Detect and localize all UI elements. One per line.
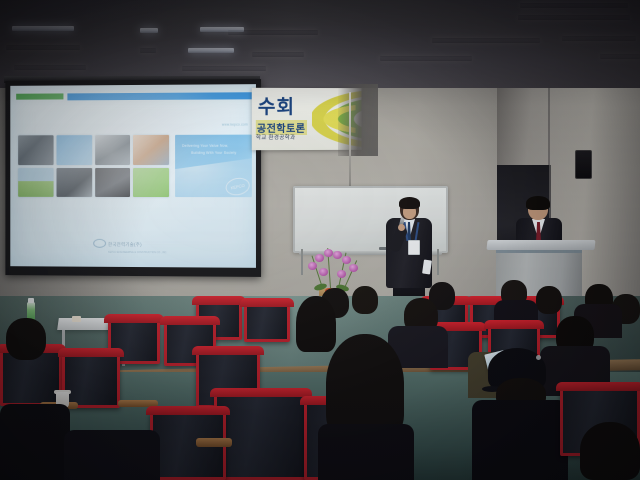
fluorescent-tube (182, 66, 266, 71)
fluorescent-tube (518, 15, 630, 20)
seat-rim (210, 388, 312, 397)
bottle-cap (28, 298, 34, 303)
audience-coat (318, 424, 414, 480)
orchid-bloom (319, 268, 328, 276)
orchid-bloom (342, 256, 351, 264)
company-name-en: KEPCO ENGINEERING & CONSTRUCTION CO., IN… (108, 251, 167, 254)
presenter-with-microphone (383, 198, 435, 304)
fluorescent-tube (228, 30, 318, 35)
auditorium-seat (244, 302, 290, 342)
slide-thumb-globe (133, 135, 169, 165)
slide-tagline-panel: Delivering Your Value Now, Building With… (175, 135, 252, 198)
audience-long-hair (326, 334, 404, 438)
orchid-bloom (349, 264, 358, 272)
fluorescent-tube (380, 56, 472, 61)
seat-rim (146, 406, 230, 415)
slide-thumb-industrial (56, 168, 91, 197)
company-mark-icon (93, 239, 106, 248)
loudspeaker-icon (575, 150, 592, 179)
slide-footer-logo: 한국전력기술(주) KEPCO ENGINEERING & CONSTRUCTI… (93, 233, 167, 254)
banner-title: 수회 (258, 98, 295, 117)
fluorescent-tube (600, 54, 640, 59)
cap-logo-icon (536, 355, 541, 360)
seat-rim (192, 296, 246, 305)
fluorescent-tube (562, 36, 636, 41)
presenter-hair (399, 197, 420, 209)
slide-thumb-crowd (18, 135, 53, 164)
slide-thumb-keyboard (95, 168, 131, 197)
slide-accent-green (16, 93, 63, 99)
audience-long-hair (580, 422, 640, 480)
orchid-bloom (315, 254, 324, 262)
seat-rim (240, 298, 294, 307)
orchid-bloom (308, 262, 317, 270)
paper-cup (72, 316, 81, 322)
presentation-slide: www.kepco.com Delivering Your Value Now,… (10, 84, 256, 268)
audience-coat (472, 400, 568, 480)
slide-url: www.kepco.com (222, 123, 248, 127)
audience-long-hair (296, 296, 336, 352)
seat-rim (160, 316, 220, 325)
auditorium-seat (214, 392, 308, 480)
audience-head (352, 286, 378, 314)
fluorescent-tube (520, 3, 628, 8)
orchid-bloom (333, 251, 342, 259)
audience-head (6, 318, 46, 360)
fluorescent-tube (6, 45, 80, 50)
audience-head (536, 286, 562, 314)
company-name-ko: 한국전력기술(주) (108, 242, 142, 247)
seat-rim (104, 314, 164, 323)
fluorescent-tube (14, 65, 86, 70)
seat-rim (484, 320, 544, 329)
seat-armrest (196, 438, 232, 447)
lectern-surface (486, 240, 595, 250)
lectern-person-hair (526, 196, 550, 210)
banner-org: 학교 환경공학과 (256, 133, 296, 141)
seat-back (62, 352, 120, 408)
audience-coat (64, 430, 160, 480)
slide-thumb-blue (56, 135, 91, 164)
lecture-hall-photo: www.kepco.com Delivering Your Value Now,… (0, 0, 640, 480)
orchid-bloom (324, 249, 333, 257)
slide-thumbnail-grid (18, 135, 169, 197)
banner-pole (349, 92, 351, 190)
whiteboard-leg (437, 249, 439, 275)
fluorescent-tube (252, 52, 304, 57)
fluorescent-tube (432, 38, 540, 43)
audience-coat (0, 404, 70, 480)
auditorium-seat (62, 352, 120, 408)
banner-shadow-occlusion (338, 84, 378, 156)
seat-back (214, 392, 308, 480)
seat-rim (556, 382, 640, 391)
slide-thumb-turbine (18, 168, 53, 197)
projector-screen: www.kepco.com Delivering Your Value Now,… (5, 79, 261, 277)
slide-thumb-field (133, 167, 169, 197)
seat-rim (58, 348, 124, 357)
fluorescent-tube (188, 48, 234, 53)
slide-thumb-machinery (95, 135, 131, 165)
seat-back (244, 302, 290, 342)
name-badge (408, 240, 420, 255)
slide-tagline-1: Delivering Your Value Now, (182, 144, 228, 148)
fluorescent-tube (12, 26, 74, 31)
presenter-hand (398, 224, 405, 231)
orchid-bloom (337, 270, 346, 278)
seat-rim (192, 346, 264, 355)
slide-accent-blue (67, 92, 252, 100)
fluorescent-tube (140, 48, 156, 53)
fluorescent-tube (200, 27, 244, 32)
slide-tagline-2: Building With Your Society (191, 151, 236, 155)
fluorescent-tube (140, 28, 158, 33)
